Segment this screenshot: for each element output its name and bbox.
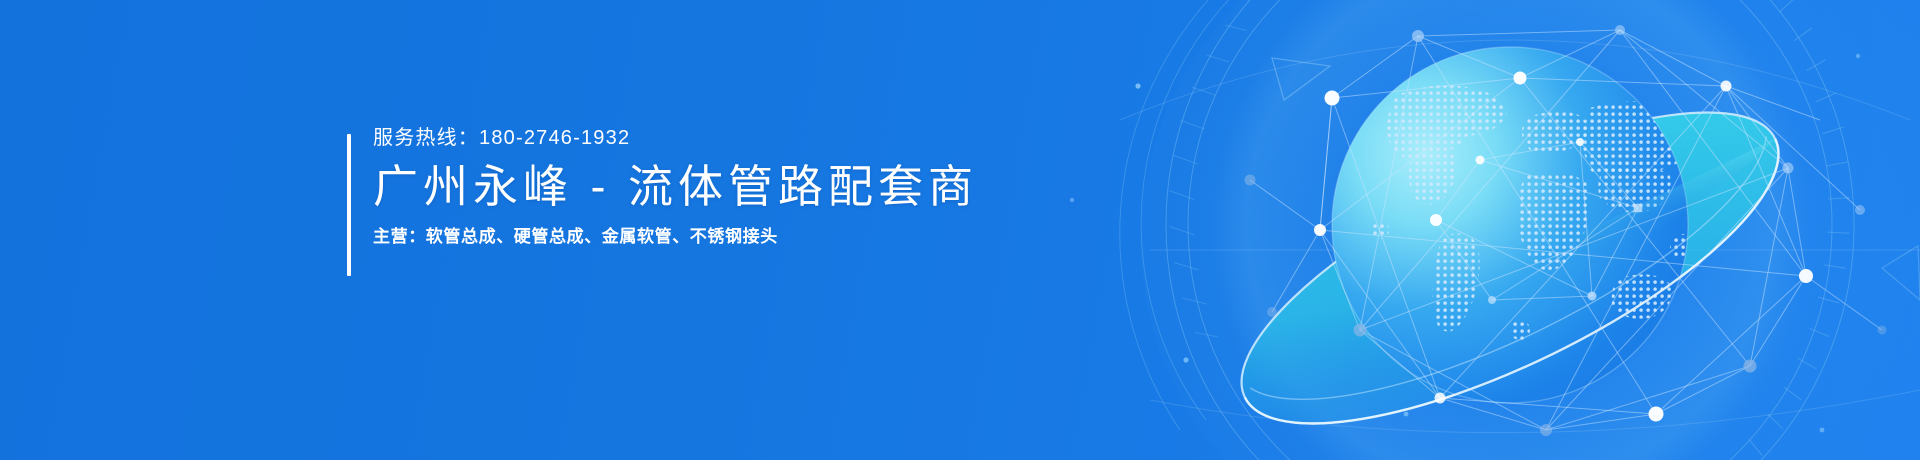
banner-copy: 服务热线：180-2746-1932 广州永峰 - 流体管路配套商 主营：软管总… [347,128,978,245]
service-hotline: 服务热线：180-2746-1932 [373,128,978,148]
business-scope: 主营：软管总成、硬管总成、金属软管、不锈钢接头 [373,228,978,245]
page-title: 广州永峰 - 流体管路配套商 [373,162,978,212]
globe-network-illustration [820,0,1920,460]
hero-banner: 服务热线：180-2746-1932 广州永峰 - 流体管路配套商 主营：软管总… [0,0,1920,460]
vertical-accent-bar [347,134,351,276]
